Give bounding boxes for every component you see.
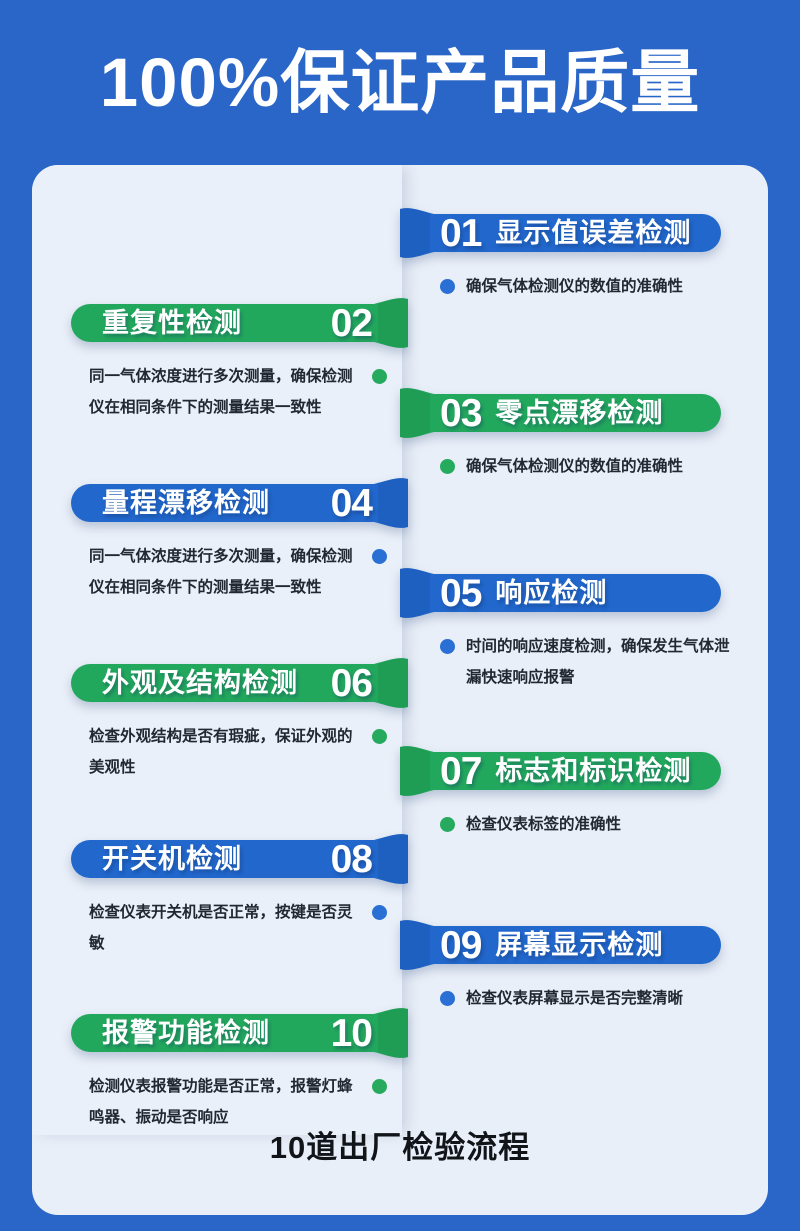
item-description: 检查仪表开关机是否正常，按键是否灵敏: [78, 897, 387, 959]
item-banner: 开关机检测08: [60, 831, 408, 887]
footer-caption: 10道出厂检验流程: [32, 1122, 768, 1167]
item-title: 响应检测: [495, 580, 607, 607]
bullet-dot-icon: [440, 279, 455, 294]
item-description-text: 检查仪表屏幕显示是否完整清晰: [466, 983, 683, 1014]
checklist-item-05: 05响应检测时间的响应速度检测，确保发生气体泄漏快速响应报警: [400, 565, 740, 693]
item-description-text: 检查仪表标签的准确性: [466, 809, 621, 840]
item-banner: 03零点漂移检测: [400, 385, 732, 441]
item-banner: 07标志和标识检测: [400, 743, 732, 799]
checklist-item-10: 报警功能检测10检测仪表报警功能是否正常，报警灯蜂鸣器、振动是否响应: [60, 1005, 415, 1133]
item-number: 07: [440, 752, 481, 791]
item-title: 零点漂移检测: [495, 400, 663, 427]
item-title: 外观及结构检测: [102, 670, 298, 697]
item-title: 标志和标识检测: [495, 758, 691, 785]
bullet-dot-icon: [440, 991, 455, 1006]
item-number: 02: [331, 304, 372, 343]
checklist-item-01: 01显示值误差检测确保气体检测仪的数值的准确性: [400, 205, 740, 302]
bullet-dot-icon: [372, 1079, 387, 1094]
bullet-dot-icon: [440, 459, 455, 474]
bullet-dot-icon: [372, 369, 387, 384]
item-description: 同一气体浓度进行多次测量，确保检测仪在相同条件下的测量结果一致性: [78, 361, 387, 423]
item-number: 09: [440, 926, 481, 965]
item-description: 同一气体浓度进行多次测量，确保检测仪在相同条件下的测量结果一致性: [78, 541, 387, 603]
bullet-dot-icon: [372, 905, 387, 920]
checklist-item-07: 07标志和标识检测检查仪表标签的准确性: [400, 743, 740, 840]
item-number: 08: [331, 840, 372, 879]
page-header: 100%保证产品质量: [0, 0, 800, 165]
item-description: 检查外观结构是否有瑕疵，保证外观的美观性: [78, 721, 387, 783]
item-banner: 01显示值误差检测: [400, 205, 732, 261]
checklist-item-09: 09屏幕显示检测检查仪表屏幕显示是否完整清晰: [400, 917, 740, 1014]
item-description-text: 同一气体浓度进行多次测量，确保检测仪在相同条件下的测量结果一致性: [89, 541, 361, 603]
checklist-columns: 01显示值误差检测确保气体检测仪的数值的准确性重复性检测02同一气体浓度进行多次…: [32, 165, 768, 1215]
item-title: 重复性检测: [102, 310, 242, 337]
item-description-text: 检查外观结构是否有瑕疵，保证外观的美观性: [89, 721, 361, 783]
item-title: 显示值误差检测: [495, 220, 691, 247]
bullet-dot-icon: [372, 549, 387, 564]
checklist-item-08: 开关机检测08检查仪表开关机是否正常，按键是否灵敏: [60, 831, 415, 959]
bullet-dot-icon: [440, 817, 455, 832]
bullet-dot-icon: [372, 729, 387, 744]
item-banner: 重复性检测02: [60, 295, 408, 351]
checklist-item-06: 外观及结构检测06检查外观结构是否有瑕疵，保证外观的美观性: [60, 655, 415, 783]
item-title: 报警功能检测: [102, 1020, 270, 1047]
item-number: 01: [440, 214, 481, 253]
item-number: 03: [440, 394, 481, 433]
item-title: 屏幕显示检测: [495, 932, 663, 959]
bullet-dot-icon: [440, 639, 455, 654]
checklist-item-02: 重复性检测02同一气体浓度进行多次测量，确保检测仪在相同条件下的测量结果一致性: [60, 295, 415, 423]
item-description: 检查仪表标签的准确性: [440, 809, 740, 840]
content-card: 01显示值误差检测确保气体检测仪的数值的准确性重复性检测02同一气体浓度进行多次…: [32, 165, 768, 1215]
item-banner: 05响应检测: [400, 565, 732, 621]
item-banner: 报警功能检测10: [60, 1005, 408, 1061]
item-banner: 外观及结构检测06: [60, 655, 408, 711]
item-banner: 09屏幕显示检测: [400, 917, 732, 973]
item-description-text: 时间的响应速度检测，确保发生气体泄漏快速响应报警: [466, 631, 738, 693]
item-description: 确保气体检测仪的数值的准确性: [440, 271, 740, 302]
item-description: 检查仪表屏幕显示是否完整清晰: [440, 983, 740, 1014]
checklist-item-03: 03零点漂移检测确保气体检测仪的数值的准确性: [400, 385, 740, 482]
item-description-text: 同一气体浓度进行多次测量，确保检测仪在相同条件下的测量结果一致性: [89, 361, 361, 423]
item-description: 确保气体检测仪的数值的准确性: [440, 451, 740, 482]
item-banner: 量程漂移检测04: [60, 475, 408, 531]
item-number: 04: [331, 484, 372, 523]
item-title: 量程漂移检测: [102, 490, 270, 517]
item-number: 06: [331, 664, 372, 703]
item-title: 开关机检测: [102, 846, 242, 873]
page-title: 100%保证产品质量: [100, 48, 700, 117]
item-description-text: 检查仪表开关机是否正常，按键是否灵敏: [89, 897, 361, 959]
checklist-item-04: 量程漂移检测04同一气体浓度进行多次测量，确保检测仪在相同条件下的测量结果一致性: [60, 475, 415, 603]
item-number: 05: [440, 574, 481, 613]
item-number: 10: [331, 1014, 372, 1053]
item-description-text: 确保气体检测仪的数值的准确性: [466, 451, 683, 482]
item-description-text: 确保气体检测仪的数值的准确性: [466, 271, 683, 302]
item-description: 时间的响应速度检测，确保发生气体泄漏快速响应报警: [440, 631, 740, 693]
